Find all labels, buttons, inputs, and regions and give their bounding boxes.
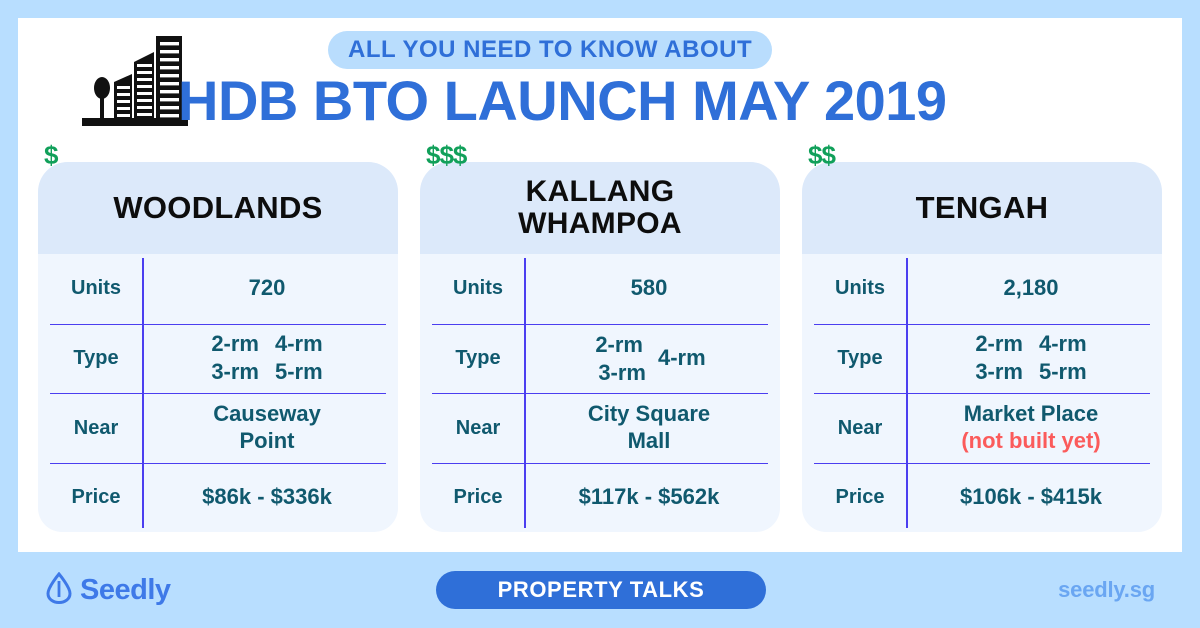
- row-label: Units: [432, 277, 524, 300]
- seedly-logo[interactable]: Seedly: [45, 572, 171, 609]
- table-row: Units 720: [50, 254, 386, 324]
- card-header: KALLANG WHAMPOA: [420, 162, 780, 254]
- property-talks-label: PROPERTY TALKS: [498, 577, 705, 603]
- card-rows: Units 720 Type 2-rm 4-rm 3-rm 5-rm: [38, 254, 398, 532]
- table-row: Near Causeway Point: [50, 393, 386, 463]
- table-row: Type 2-rm 3-rm 4-rm: [432, 324, 768, 394]
- estate-cards: $ WOODLANDS Units 720 Type: [18, 148, 1182, 548]
- flat-type: 2-rm: [975, 331, 1023, 358]
- row-value-line: Market Place: [912, 401, 1150, 428]
- row-value-note: (not built yet): [912, 428, 1150, 455]
- card-rows: Units 2,180 Type 2-rm 4-rm 3-rm 5-rm: [802, 254, 1162, 532]
- row-value: Market Place (not built yet): [906, 401, 1150, 455]
- row-value-line: City Square: [530, 401, 768, 428]
- flat-type-grid: 2-rm 4-rm 3-rm 5-rm: [975, 331, 1086, 386]
- table-row: Type 2-rm 4-rm 3-rm 5-rm: [50, 324, 386, 394]
- page-title: HDB BTO LAUNCH MAY 2019: [178, 72, 947, 131]
- row-label: Units: [50, 277, 142, 300]
- row-value: 720: [142, 275, 386, 302]
- row-label: Units: [814, 277, 906, 300]
- flat-type: 2-rm: [211, 331, 259, 358]
- header-banner-pill: ALL YOU NEED TO KNOW ABOUT: [328, 31, 772, 69]
- flat-type: 5-rm: [275, 359, 323, 386]
- card-rows: Units 580 Type 2-rm 3-rm: [420, 254, 780, 532]
- row-label: Type: [432, 347, 524, 370]
- table-row: Price $117k - $562k: [432, 463, 768, 533]
- row-label: Near: [50, 417, 142, 440]
- header-banner-text: ALL YOU NEED TO KNOW ABOUT: [348, 36, 752, 64]
- row-value: 2-rm 3-rm 4-rm: [524, 331, 768, 386]
- flat-type: 4-rm: [1039, 331, 1087, 358]
- row-label: Type: [50, 347, 142, 370]
- table-row: Price $86k - $336k: [50, 463, 386, 533]
- estate-card-woodlands: $ WOODLANDS Units 720 Type: [38, 148, 398, 548]
- estate-name-line: KALLANG: [526, 175, 675, 208]
- card-header: TENGAH: [802, 162, 1162, 254]
- estate-name: WOODLANDS: [113, 191, 322, 224]
- row-value: City Square Mall: [524, 401, 768, 455]
- footer: Seedly PROPERTY TALKS seedly.sg: [0, 552, 1200, 628]
- row-value-line: Point: [148, 428, 386, 455]
- estate-name: KALLANG WHAMPOA: [518, 176, 682, 241]
- table-row: Units 2,180: [814, 254, 1150, 324]
- flat-type-grid: 2-rm 4-rm 3-rm 5-rm: [211, 331, 322, 386]
- flat-type-grid: 2-rm 3-rm 4-rm: [592, 331, 705, 386]
- row-value: $106k - $415k: [906, 484, 1150, 511]
- flat-type: 4-rm: [658, 345, 706, 372]
- price-tier-badge: $: [44, 142, 57, 168]
- website-url[interactable]: seedly.sg: [1058, 577, 1155, 603]
- row-label: Type: [814, 347, 906, 370]
- estate-name: TENGAH: [916, 191, 1049, 224]
- table-row: Price $106k - $415k: [814, 463, 1150, 533]
- row-label: Price: [50, 486, 142, 509]
- row-label: Near: [432, 417, 524, 440]
- price-tier-badge: $$: [808, 142, 835, 168]
- header: ALL YOU NEED TO KNOW ABOUT HDB BTO LAUNC…: [18, 18, 1182, 140]
- row-label: Price: [432, 486, 524, 509]
- seedly-droplet-logo-icon: [45, 572, 73, 609]
- estate-card-tengah: $$ TENGAH Units 2,180 Type: [802, 148, 1162, 548]
- row-value: 2,180: [906, 275, 1150, 302]
- row-value: $117k - $562k: [524, 484, 768, 511]
- flat-type: 2-rm: [592, 331, 646, 358]
- card-header: WOODLANDS: [38, 162, 398, 254]
- row-value: 2-rm 4-rm 3-rm 5-rm: [142, 331, 386, 386]
- row-value-line: Mall: [530, 428, 768, 455]
- flat-type: 4-rm: [275, 331, 323, 358]
- table-row: Units 580: [432, 254, 768, 324]
- row-value-line: Causeway: [148, 401, 386, 428]
- table-row: Type 2-rm 4-rm 3-rm 5-rm: [814, 324, 1150, 394]
- flat-type: 5-rm: [1039, 359, 1087, 386]
- row-value: Causeway Point: [142, 401, 386, 455]
- row-value: 2-rm 4-rm 3-rm 5-rm: [906, 331, 1150, 386]
- infographic-poster: ALL YOU NEED TO KNOW ABOUT HDB BTO LAUNC…: [0, 0, 1200, 628]
- flat-type: 3-rm: [598, 359, 646, 386]
- row-value: $86k - $336k: [142, 484, 386, 511]
- row-label: Price: [814, 486, 906, 509]
- property-talks-pill[interactable]: PROPERTY TALKS: [436, 571, 766, 609]
- estate-card-kallang-whampoa: $$$ KALLANG WHAMPOA Units 580: [420, 148, 780, 548]
- estate-name-line: WHAMPOA: [518, 207, 682, 240]
- seedly-logo-text: Seedly: [80, 574, 171, 607]
- row-label: Near: [814, 417, 906, 440]
- flat-type: 3-rm: [211, 359, 259, 386]
- row-value: 580: [524, 275, 768, 302]
- table-row: Near Market Place (not built yet): [814, 393, 1150, 463]
- content-canvas: ALL YOU NEED TO KNOW ABOUT HDB BTO LAUNC…: [18, 18, 1182, 552]
- price-tier-badge: $$$: [426, 142, 466, 168]
- flat-type: 3-rm: [975, 359, 1023, 386]
- city-buildings-icon: [80, 30, 190, 130]
- table-row: Near City Square Mall: [432, 393, 768, 463]
